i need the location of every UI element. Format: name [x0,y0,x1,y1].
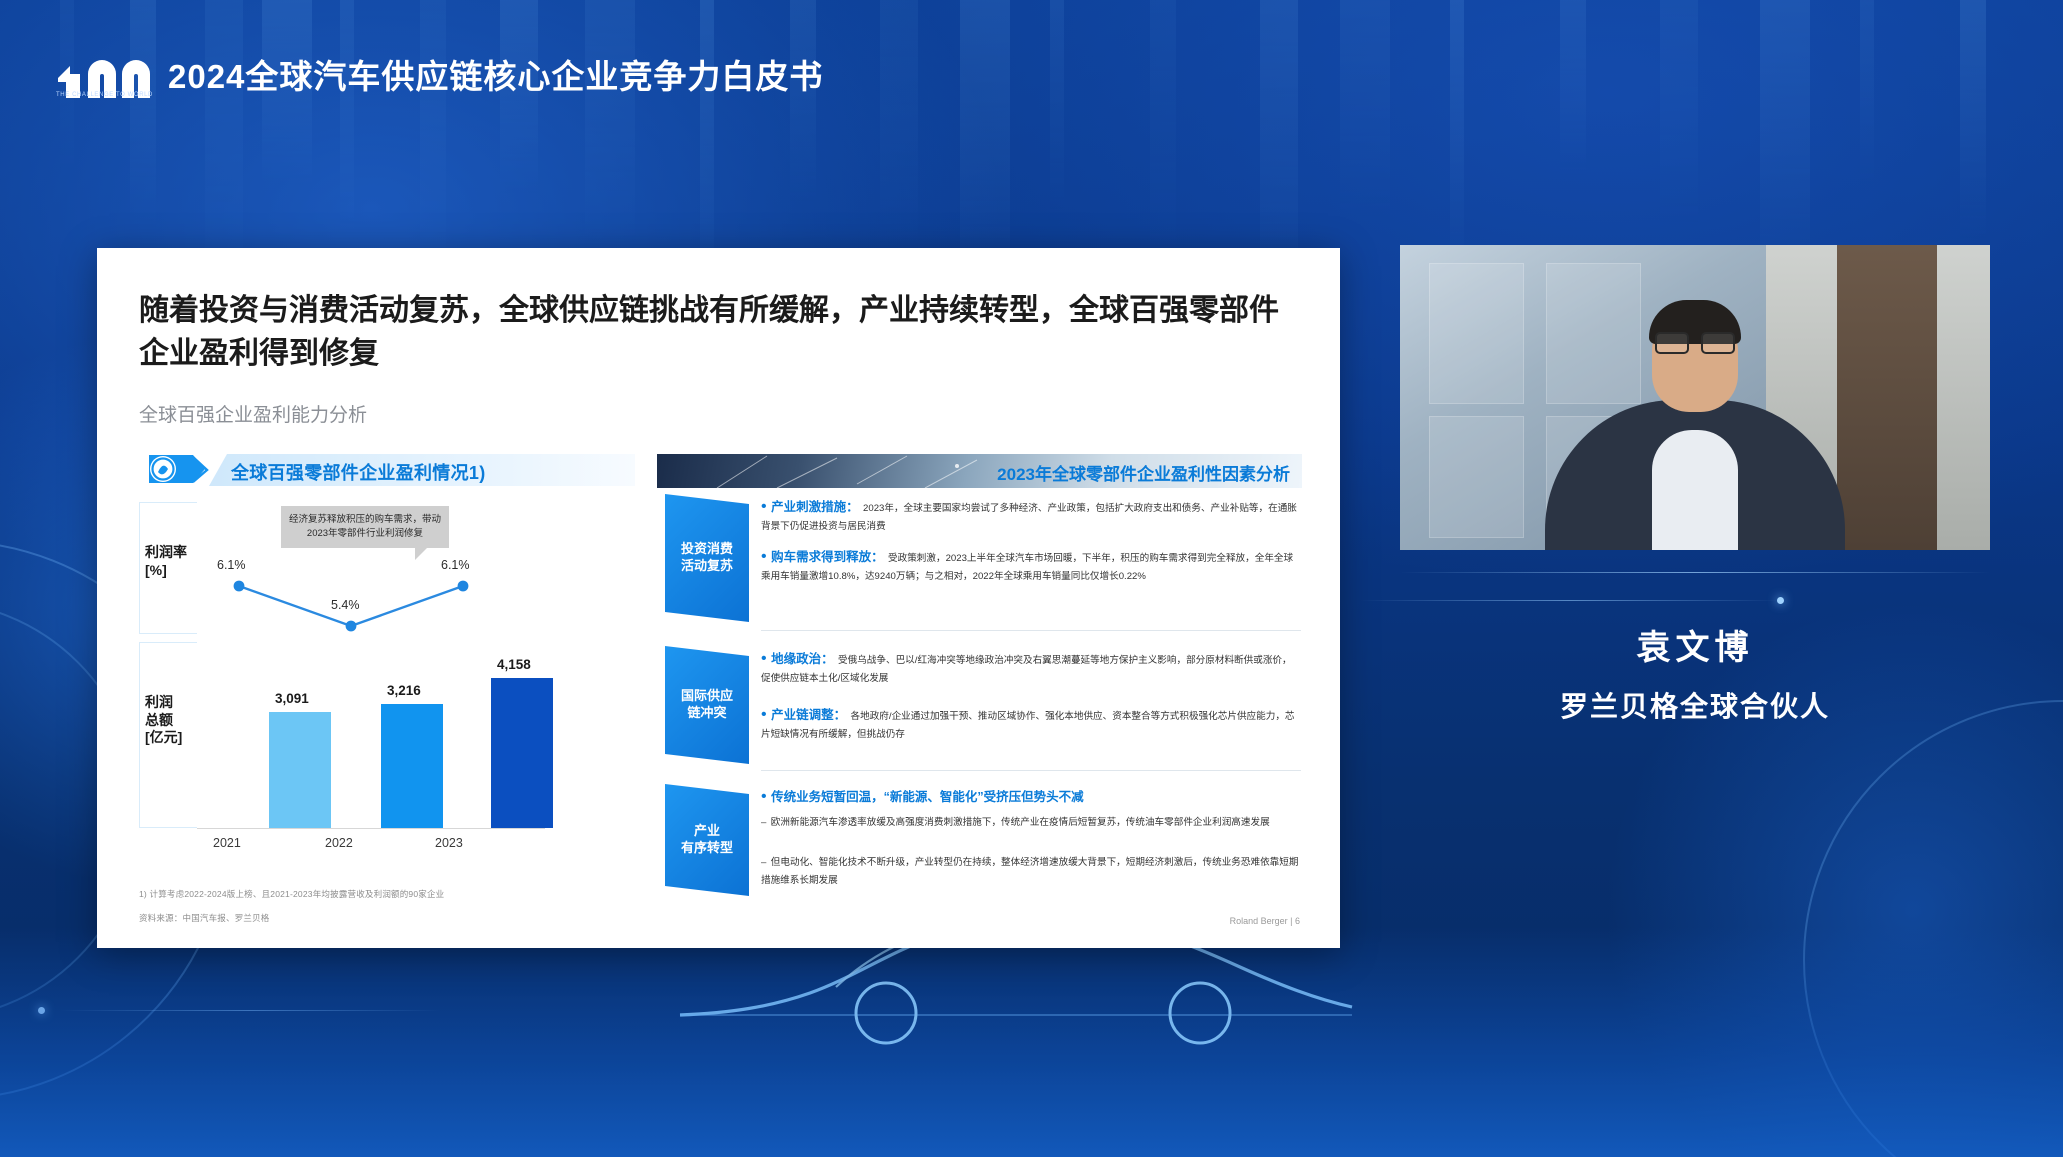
glasses-left-icon [1655,332,1689,354]
chart-canvas: 利润率[%] 利润 总额 [亿元] 经济复苏释放积压的购车需求，带动2023年零… [135,496,635,868]
slide-subtitle: 全球百强企业盈利能力分析 [139,400,367,427]
factor-separator-2 [761,770,1301,771]
factor-item-head: 产业链调整： [771,708,846,722]
window-pane-2 [1546,263,1641,403]
factor-item-head: 产业刺激措施： [771,500,859,514]
factor-item-dash: – [761,817,766,828]
page-title: 2024全球汽车供应链核心企业竞争力白皮书 [168,50,823,98]
factor-separator-1 [761,630,1301,631]
bullet-icon: • [761,788,767,805]
speaker-shirt [1652,430,1738,550]
bar-value-2023: 4,158 [497,657,531,672]
factor-item-text: 但电动化、智能化技术不断升级，产业转型仍在持续，整体经济增速放缓大背景下，短期经… [761,857,1298,886]
speaker-role: 罗兰贝格全球合伙人 [1400,685,1990,725]
profit-badge-icon [141,451,217,489]
slide-title: 随着投资与消费活动复苏，全球供应链挑战有所缓解，产业持续转型，全球百强零部件企业… [139,290,1299,375]
presentation-slide: 随着投资与消费活动复苏，全球供应链挑战有所缓解，产业持续转型，全球百强零部件企业… [97,248,1340,948]
bar-chart-area: 3,091 3,216 4,158 [207,672,527,828]
chart-panel-header: 全球百强零部件企业盈利情况1) [135,454,635,486]
slide-footnote-2: 资料来源：中国汽车报、罗兰贝格 [139,912,270,924]
factor-item-text: 受俄乌战争、巴以/红海冲突等地缘政治冲突及右翼思潮蔓延等地方保护主义影响，部分原… [761,655,1292,684]
factor-item-europe: – 欧洲新能源汽车渗透率放缓及高强度消费刺激措施下，传统产业在疫情后短暂复苏，传… [761,812,1301,830]
bar-2023 [491,678,553,828]
bar-2022 [381,704,443,828]
page-header: THE CHALLENGE TO WORLD 2024全球汽车供应链核心企业竞争… [0,0,2063,150]
rate-label-2021: 6.1% [217,558,246,572]
chart-panel: 全球百强零部件企业盈利情况1) 利润率[%] 利润 总额 [亿元] 经济复苏释放… [135,454,635,874]
bar-value-2022: 3,216 [387,683,421,698]
factor-item-text: 欧洲新能源汽车渗透率放缓及高强度消费刺激措施下，传统产业在疫情后短暂复苏，传统油… [771,817,1270,828]
factors-panel-header: 2023年全球零部件企业盈利性因素分析 [657,454,1302,488]
factor-item-demand: • 购车需求得到释放： 受政策刺激，2023上半年全球汽车市场回暖，下半年，积压… [761,546,1301,585]
factors-panel-title: 2023年全球零部件企业盈利性因素分析 [997,460,1290,485]
factors-list: 投资消费活动复苏 • 产业刺激措施： 2023年，全球主要国家均尝试了多种经济、… [657,488,1302,904]
background-dot-1 [1777,597,1784,604]
factor-item-geopolitics: • 地缘政治： 受俄乌战争、巴以/红海冲突等地缘政治冲突及右翼思潮蔓延等地方保护… [761,648,1301,687]
logo-subtext: THE CHALLENGE TO WORLD [56,92,152,98]
factor-category-investment: 投资消费活动复苏 [665,494,749,622]
video-door [1837,245,1937,550]
slide-footnote-1: 1) 计算考虑2022-2024版上榜、且2021-2023年均披露营收及利润额… [139,888,444,900]
x-axis-line [197,828,545,829]
chart-panel-title: 全球百强零部件企业盈利情况1) [231,459,486,485]
bullet-icon: • [761,498,767,515]
factor-category-supplychain: 国际供应链冲突 [665,646,749,764]
bar-2021 [269,712,331,828]
x-axis-label-2023: 2023 [435,836,463,850]
bullet-icon: • [761,548,767,565]
background-line-1 [1360,600,1780,601]
rate-label-2022: 5.4% [331,598,360,612]
factor-item-chain-adjust: • 产业链调整： 各地政府/企业通过加强干预、推动区域协作、强化本地供应、资本整… [761,704,1301,743]
window-pane-1 [1429,263,1524,403]
factor-item-dash: – [761,857,766,868]
factor-item-head: 传统业务短暂回温，“新能源、智能化”受挤压但势头不减 [771,790,1084,804]
window-pane-3 [1429,416,1524,538]
y-axis-label-rate: 利润率[%] [145,544,187,579]
factor-category-transform: 产业有序转型 [665,784,749,896]
bar-value-2021: 3,091 [275,691,309,706]
x-axis-label-2022: 2022 [325,836,353,850]
y-axis-label-profit: 利润 总额 [亿元] [145,694,182,747]
speaker-video-tile[interactable] [1400,245,1990,550]
glasses-right-icon [1701,332,1735,354]
rate-label-2023: 6.1% [441,558,470,572]
speaker-divider [1400,572,1990,573]
factor-item-head: 地缘政治： [771,652,834,666]
factor-item-head: 购车需求得到释放： [771,550,884,564]
bullet-icon: • [761,706,767,723]
speaker-info: 袁文博 罗兰贝格全球合伙人 [1400,620,1990,725]
factors-panel: 2023年全球零部件企业盈利性因素分析 投资消费活动复苏 • 产业刺激措施： 2… [657,454,1302,904]
slide-brand-footer: Roland Berger | 6 [1230,916,1300,926]
factor-item-traditional: • 传统业务短暂回温，“新能源、智能化”受挤压但势头不减 [761,786,1301,806]
x-axis-label-2021: 2021 [213,836,241,850]
bullet-icon: • [761,650,767,667]
factor-item-stimulus: • 产业刺激措施： 2023年，全球主要国家均尝试了多种经济、产业政策，包括扩大… [761,496,1301,535]
chart-annotation: 经济复苏释放积压的购车需求，带动2023年零部件行业利润修复 [281,506,449,548]
speaker-name: 袁文博 [1400,620,1990,669]
factor-item-electrification: – 但电动化、智能化技术不断升级，产业转型仍在持续，整体经济增速放缓大背景下，短… [761,852,1301,889]
